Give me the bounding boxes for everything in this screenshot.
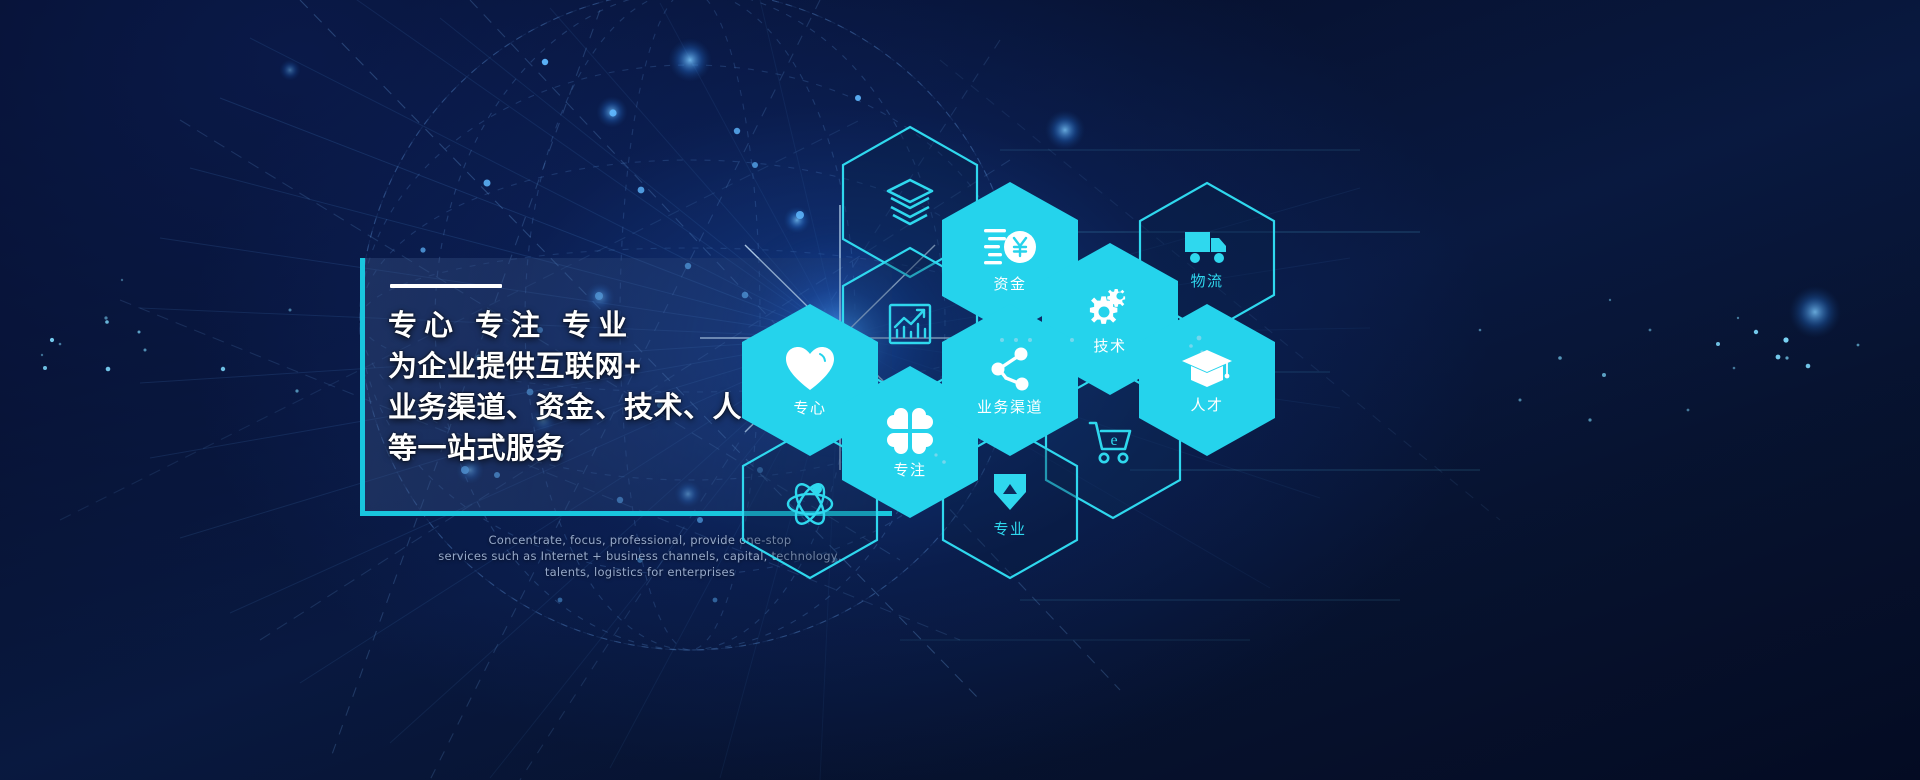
- gears-icon: [1085, 285, 1135, 331]
- layers-icon: [884, 177, 936, 227]
- ecommerce-cart-icon: e: [1087, 419, 1139, 467]
- hex-label: 专业: [993, 522, 1026, 537]
- diamond-icon: [988, 470, 1032, 514]
- hex-label: 人才: [1190, 398, 1223, 413]
- hex-label: 资金: [993, 277, 1026, 292]
- banner-stage: 专心 专注 专业 为企业提供互联网+ 业务渠道、资金、技术、人才、物流 等一站式…: [0, 0, 1920, 780]
- hex-label: 技术: [1093, 339, 1126, 354]
- hex-label: 专心: [793, 401, 826, 416]
- hex-yewu[interactable]: 业务渠道: [940, 302, 1080, 458]
- yuan-coin-icon: [983, 225, 1037, 269]
- atom-icon: [783, 478, 837, 528]
- svg-text:e: e: [1110, 432, 1117, 449]
- hex-label: 业务渠道: [977, 400, 1043, 415]
- chart-growth-icon: [886, 299, 934, 347]
- truck-icon: [1183, 228, 1231, 266]
- hex-rencai[interactable]: 人才: [1137, 302, 1277, 458]
- hex-label: 物流: [1190, 274, 1223, 289]
- share-nodes-icon: [986, 346, 1034, 392]
- graduation-cap-icon: [1181, 348, 1233, 390]
- panel-rule: [390, 284, 502, 288]
- clover-icon: [886, 407, 934, 455]
- hex-label: 专注: [893, 463, 926, 478]
- heart-icon: [784, 345, 836, 393]
